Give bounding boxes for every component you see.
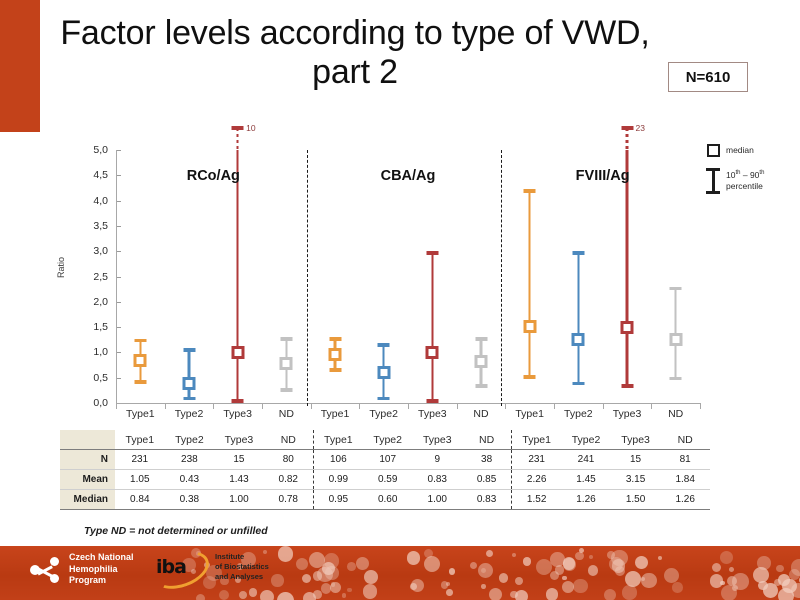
bubble bbox=[271, 574, 283, 586]
iba-logo: iba Institute of Biostatistics and Analy… bbox=[150, 551, 269, 583]
table-cell: 0.60 bbox=[363, 490, 413, 510]
x-tick-mark bbox=[262, 403, 263, 409]
table-column-header: Type1 bbox=[115, 430, 165, 450]
table-cell: 0.38 bbox=[165, 490, 215, 510]
bubble bbox=[356, 557, 369, 570]
x-tick-label: Type3 bbox=[418, 408, 447, 420]
y-tick-label: 0,5 bbox=[93, 372, 108, 384]
table-cell: 0.95 bbox=[313, 490, 363, 510]
whisker-cap-bottom bbox=[426, 399, 438, 403]
bubble bbox=[424, 556, 440, 572]
x-tick-label: ND bbox=[473, 408, 488, 420]
bubble bbox=[278, 546, 294, 562]
x-tick-label: Type2 bbox=[175, 408, 204, 420]
x-tick-label: Type3 bbox=[223, 408, 252, 420]
bubble bbox=[573, 579, 587, 593]
whisker-cap-top bbox=[378, 343, 390, 347]
table-cell: 0.83 bbox=[462, 490, 512, 510]
bubble bbox=[575, 552, 583, 560]
x-tick-mark bbox=[700, 403, 701, 409]
x-tick-mark bbox=[359, 403, 360, 409]
whisker-cap-top bbox=[134, 339, 146, 343]
logo1-text: Czech National Hemophilia Program bbox=[69, 552, 134, 587]
bubble bbox=[302, 574, 312, 584]
x-tick-mark bbox=[165, 403, 166, 409]
bubble bbox=[658, 556, 662, 560]
median-marker bbox=[669, 333, 682, 346]
plot-area: 1023 bbox=[116, 150, 700, 403]
box-whisker-FVIII-Ag-Type2 bbox=[578, 150, 579, 403]
bubble bbox=[363, 584, 377, 598]
median-marker bbox=[621, 321, 634, 334]
bubble bbox=[729, 567, 734, 572]
logo2-line1: Institute bbox=[215, 552, 244, 561]
panel-title: CBA/Ag bbox=[381, 168, 436, 184]
y-tick-label: 1,5 bbox=[93, 321, 108, 333]
bubble bbox=[776, 565, 783, 572]
bubble bbox=[260, 590, 274, 600]
bubble bbox=[481, 568, 486, 573]
table-cell: 231 bbox=[512, 450, 562, 470]
table-column-header: Type2 bbox=[363, 430, 413, 450]
y-axis-title: Ratio bbox=[56, 257, 66, 278]
table-row: Median0.840.381.000.780.950.601.000.831.… bbox=[60, 490, 710, 510]
czech-national-hemophilia-program-logo: Czech National Hemophilia Program bbox=[30, 552, 134, 587]
table-cell: 1.00 bbox=[214, 490, 264, 510]
panel-separator bbox=[307, 150, 308, 406]
y-tick-label: 0,0 bbox=[93, 397, 108, 409]
median-marker bbox=[280, 357, 293, 370]
median-marker bbox=[475, 355, 488, 368]
whisker-stem bbox=[577, 251, 579, 385]
whisker-cap-bottom bbox=[572, 382, 584, 386]
bubble bbox=[710, 574, 723, 587]
legend-label-median: median bbox=[726, 142, 754, 156]
bubble bbox=[499, 573, 508, 582]
table-column-header: ND bbox=[660, 430, 710, 450]
bubble bbox=[364, 570, 378, 584]
bubble bbox=[196, 594, 205, 600]
x-tick-mark bbox=[603, 403, 604, 409]
whisker-stem bbox=[188, 348, 190, 400]
median-marker bbox=[523, 320, 536, 333]
x-tick-mark bbox=[213, 403, 214, 409]
bubble bbox=[470, 562, 477, 569]
table-row: N23123815801061079382312411581 bbox=[60, 450, 710, 470]
table-cell: 2.26 bbox=[512, 470, 562, 490]
bubble bbox=[607, 551, 615, 559]
median-marker bbox=[572, 333, 585, 346]
clipped-cap bbox=[232, 126, 244, 130]
whisker-cap-top bbox=[280, 337, 292, 341]
bubble bbox=[277, 592, 294, 600]
percentile-c: percentile bbox=[726, 181, 763, 191]
table-column-header: Type3 bbox=[412, 430, 462, 450]
bubble bbox=[712, 563, 721, 572]
bubble bbox=[588, 565, 599, 576]
table-cell: 1.52 bbox=[512, 490, 562, 510]
iba-word: iba bbox=[156, 556, 186, 578]
bubble bbox=[481, 584, 486, 589]
x-tick-label: Type1 bbox=[321, 408, 350, 420]
table-cell: 0.43 bbox=[165, 470, 215, 490]
table-cell: 238 bbox=[165, 450, 215, 470]
table-cell: 3.15 bbox=[611, 470, 661, 490]
box-whisker-CBA-Ag-Type2 bbox=[383, 150, 384, 403]
molecule-icon bbox=[30, 555, 66, 585]
whisker-cap-top bbox=[426, 251, 438, 255]
whisker-cap-bottom bbox=[280, 388, 292, 392]
whisker-cap-bottom bbox=[232, 399, 244, 403]
bubble bbox=[410, 583, 417, 590]
x-tick-label: Type2 bbox=[369, 408, 398, 420]
table-cell: 1.45 bbox=[561, 470, 611, 490]
table-row-label: N bbox=[60, 450, 115, 470]
table-column-header: Type3 bbox=[214, 430, 264, 450]
clipped-break-line bbox=[236, 128, 238, 156]
y-tick-label: 3,5 bbox=[93, 220, 108, 232]
iba-mark-icon: iba bbox=[150, 551, 214, 583]
table-body: N23123815801061079382312411581Mean1.050.… bbox=[60, 450, 710, 510]
panel-separator bbox=[501, 150, 502, 406]
bubble bbox=[562, 581, 574, 593]
accent-bar bbox=[0, 0, 40, 132]
table-cell: 0.59 bbox=[363, 470, 413, 490]
median-marker bbox=[134, 354, 147, 367]
logo1-line1: Czech National bbox=[69, 552, 134, 562]
bubble bbox=[446, 589, 452, 595]
median-marker bbox=[231, 346, 244, 359]
bubble bbox=[550, 571, 559, 580]
bubble bbox=[441, 581, 449, 589]
table-header-row: Type1Type2Type3NDType1Type2Type3NDType1T… bbox=[60, 430, 710, 450]
whisker-cap-bottom bbox=[378, 397, 390, 401]
bubble bbox=[604, 589, 616, 600]
x-tick-label: Type2 bbox=[564, 408, 593, 420]
logo2-line2: of Biostatistics bbox=[215, 562, 269, 571]
table-cell: 81 bbox=[660, 450, 710, 470]
table-column-header: Type1 bbox=[313, 430, 363, 450]
box-whisker-FVIII-Ag-ND bbox=[675, 150, 676, 403]
summary-table: Type1Type2Type3NDType1Type2Type3NDType1T… bbox=[60, 430, 710, 510]
table-corner bbox=[60, 430, 115, 450]
table-column-header: Type2 bbox=[561, 430, 611, 450]
table-column-header: Type2 bbox=[165, 430, 215, 450]
bubble bbox=[407, 551, 420, 564]
box-whisker-FVIII-Ag-Type1 bbox=[529, 150, 530, 403]
bubble bbox=[635, 556, 648, 569]
table-column-header: ND bbox=[264, 430, 314, 450]
x-tick-mark bbox=[554, 403, 555, 409]
x-tick-mark bbox=[457, 403, 458, 409]
table-row-label: Mean bbox=[60, 470, 115, 490]
whisker-cap-top bbox=[329, 337, 341, 341]
y-tick-label: 4,0 bbox=[93, 195, 108, 207]
x-tick-label: Type1 bbox=[126, 408, 155, 420]
table-cell: 1.26 bbox=[660, 490, 710, 510]
whisker-cap-top bbox=[475, 337, 487, 341]
slide: Factor levels according to type of VWD, … bbox=[0, 0, 800, 600]
percentile-sup-b: th bbox=[759, 170, 764, 176]
box-whisker-RCo-Ag-Type2 bbox=[189, 150, 190, 403]
table-cell: 15 bbox=[214, 450, 264, 470]
x-tick-mark bbox=[311, 403, 312, 409]
bubble bbox=[239, 591, 247, 599]
y-tick-label: 3,0 bbox=[93, 245, 108, 257]
table-cell: 1.05 bbox=[115, 470, 165, 490]
box-whisker-RCo-Ag-Type1 bbox=[140, 150, 141, 403]
bubble bbox=[763, 583, 778, 598]
bubble bbox=[510, 591, 517, 598]
chart-legend: median 10th – 90th percentile bbox=[700, 142, 796, 204]
clipped-cap bbox=[621, 126, 633, 130]
box-whisker-CBA-Ag-Type3 bbox=[432, 150, 433, 403]
whisker-cap-bottom bbox=[475, 384, 487, 388]
whisker-stem bbox=[626, 150, 628, 388]
table-cell: 0.78 bbox=[264, 490, 314, 510]
median-square-icon bbox=[700, 142, 726, 157]
bubble bbox=[791, 559, 800, 575]
percentile-dash: – bbox=[740, 170, 749, 180]
box-whisker-CBA-Ag-Type1 bbox=[335, 150, 336, 403]
panel-title: RCo/Ag bbox=[187, 168, 240, 184]
bubble bbox=[515, 577, 523, 585]
bubble bbox=[757, 556, 771, 570]
whisker-stem bbox=[528, 189, 530, 379]
table-column-header: ND bbox=[462, 430, 512, 450]
iba-text: Institute of Biostatistics and Analyses bbox=[215, 552, 269, 582]
table-cell: 1.50 bbox=[611, 490, 661, 510]
legend-label-percentile: 10th – 90th percentile bbox=[726, 167, 764, 191]
box-whisker-CBA-Ag-ND bbox=[481, 150, 482, 403]
y-tick-label: 2,5 bbox=[93, 271, 108, 283]
table-cell: 1.00 bbox=[412, 490, 462, 510]
box-whisker-RCo-Ag-ND bbox=[286, 150, 287, 403]
bubble bbox=[622, 585, 636, 599]
table-cell: 1.84 bbox=[660, 470, 710, 490]
box-whisker-RCo-Ag-Type3: 10 bbox=[237, 150, 238, 403]
bubble bbox=[489, 588, 502, 600]
bubble bbox=[303, 592, 316, 600]
table-cell: 1.43 bbox=[214, 470, 264, 490]
table-cell: 38 bbox=[462, 450, 512, 470]
bubble bbox=[562, 576, 566, 580]
legend-item-median: median bbox=[700, 142, 796, 157]
table-row: Mean1.050.431.430.820.990.590.830.852.26… bbox=[60, 470, 710, 490]
whisker-cap-bottom bbox=[621, 384, 633, 388]
whisker-cap-bottom bbox=[670, 377, 682, 381]
table-cell: 107 bbox=[363, 450, 413, 470]
bubble bbox=[664, 568, 679, 583]
median-marker bbox=[183, 377, 196, 390]
whisker-cap-top bbox=[183, 348, 195, 352]
box-whisker-FVIII-Ag-Type3: 23 bbox=[627, 150, 628, 403]
median-marker bbox=[426, 346, 439, 359]
bubble bbox=[449, 568, 456, 575]
table-cell: 241 bbox=[561, 450, 611, 470]
bubble bbox=[342, 593, 347, 598]
table-cell: 0.85 bbox=[462, 470, 512, 490]
x-tick-label: Type3 bbox=[613, 408, 642, 420]
whisker-cap-bottom bbox=[183, 397, 195, 401]
table-cell: 0.84 bbox=[115, 490, 165, 510]
clipped-break-line bbox=[626, 128, 628, 156]
footnote: Type ND = not determined or unfilled bbox=[84, 525, 268, 537]
table-column-header: Type1 bbox=[512, 430, 562, 450]
table-cell: 231 bbox=[115, 450, 165, 470]
logo1-line3: Program bbox=[69, 575, 106, 585]
table-cell: 0.83 bbox=[412, 470, 462, 490]
n-badge: N=610 bbox=[668, 62, 748, 92]
median-marker bbox=[377, 366, 390, 379]
x-tick-mark bbox=[651, 403, 652, 409]
whisker-cap-top bbox=[572, 251, 584, 255]
bubble bbox=[296, 558, 308, 570]
clipped-value-label: 23 bbox=[636, 123, 645, 133]
table-row-label: Median bbox=[60, 490, 115, 510]
table-cell: 9 bbox=[412, 450, 462, 470]
x-tick-mark bbox=[408, 403, 409, 409]
table-cell: 1.26 bbox=[561, 490, 611, 510]
bubble bbox=[589, 555, 593, 559]
y-tick-label: 2,0 bbox=[93, 296, 108, 308]
x-tick-label: Type1 bbox=[515, 408, 544, 420]
bubble bbox=[720, 551, 733, 564]
bubble bbox=[563, 557, 575, 569]
bubble bbox=[546, 588, 559, 600]
page-title: Factor levels according to type of VWD, … bbox=[55, 14, 655, 92]
whisker-cap-bottom bbox=[524, 375, 536, 379]
stats-table: Type1Type2Type3NDType1Type2Type3NDType1T… bbox=[60, 430, 710, 510]
whisker-cap-bottom bbox=[329, 368, 341, 372]
x-tick-label: ND bbox=[668, 408, 683, 420]
table-cell: 106 bbox=[313, 450, 363, 470]
bubble bbox=[512, 553, 516, 557]
whisker-cap-bottom bbox=[134, 380, 146, 384]
x-tick-mark bbox=[116, 403, 117, 409]
whisker-cap-top bbox=[670, 287, 682, 291]
median-marker bbox=[329, 348, 342, 361]
bubble bbox=[321, 583, 331, 593]
table-cell: 0.82 bbox=[264, 470, 314, 490]
legend-item-percentile: 10th – 90th percentile bbox=[700, 167, 796, 194]
chart-plot: Ratio 0,00,51,01,52,02,53,03,54,04,55,0 … bbox=[60, 150, 700, 440]
table-cell: 80 bbox=[264, 450, 314, 470]
x-tick-label: ND bbox=[279, 408, 294, 420]
x-tick-mark bbox=[505, 403, 506, 409]
bubble bbox=[249, 588, 258, 597]
bubble bbox=[219, 590, 230, 600]
y-tick-label: 1,0 bbox=[93, 346, 108, 358]
logo2-line3: and Analyses bbox=[215, 572, 263, 581]
bubble bbox=[322, 562, 335, 575]
table-cell: 0.99 bbox=[313, 470, 363, 490]
bubble bbox=[347, 588, 352, 593]
whisker-cap-top bbox=[524, 189, 536, 193]
table-column-header: Type3 bbox=[611, 430, 661, 450]
panel-title: FVIII/Ag bbox=[576, 168, 630, 184]
bubble bbox=[347, 562, 356, 571]
bubble bbox=[486, 550, 493, 557]
percentile-b: 90 bbox=[750, 170, 759, 180]
table-cell: 15 bbox=[611, 450, 661, 470]
logo1-line2: Hemophilia bbox=[69, 564, 118, 574]
bubble bbox=[732, 585, 738, 591]
bubble bbox=[672, 582, 683, 593]
whisker-stem bbox=[236, 150, 238, 403]
y-tick-label: 5,0 bbox=[93, 144, 108, 156]
bubble bbox=[641, 573, 656, 588]
whisker-icon bbox=[700, 167, 726, 194]
bubble bbox=[523, 557, 531, 565]
y-tick-label: 4,5 bbox=[93, 169, 108, 181]
y-axis-ticks: 0,00,51,01,52,02,53,03,54,04,55,0 bbox=[82, 150, 116, 440]
clipped-value-label: 10 bbox=[246, 123, 255, 133]
bubble bbox=[625, 571, 641, 587]
whisker-stem bbox=[431, 251, 433, 403]
